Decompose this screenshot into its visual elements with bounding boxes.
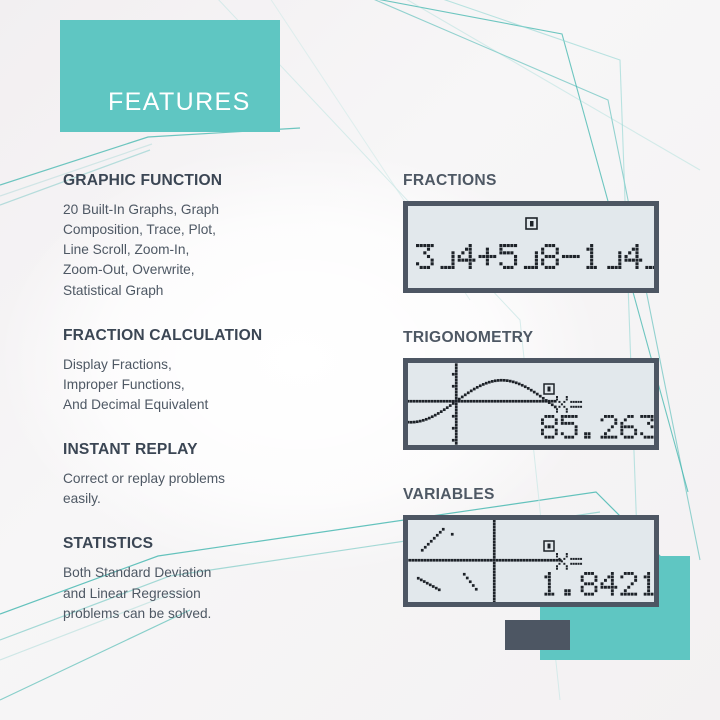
page-title: FEATURES [108,88,251,117]
display-label: TRIGONOMETRY [403,329,665,347]
accent-tab-dark [505,620,570,650]
feature-title: FRACTION CALCULATION [63,327,353,345]
calculator-display-list: FRACTIONS TRIGONOMETRY [403,172,665,607]
fraction-expression-pixels [416,244,654,269]
feature-body: 20 Built-In Graphs, Graph Composition, T… [63,200,353,301]
feature-item-instant-replay: INSTANT REPLAY Correct or replay problem… [63,441,353,509]
feature-body: Both Standard Deviation and Linear Regre… [63,563,353,623]
feature-list: GRAPHIC FUNCTION 20 Built-In Graphs, Gra… [63,172,353,650]
lcd-screen-trigonometry [408,363,654,445]
feature-item-statistics: STATISTICS Both Standard Deviation and L… [63,535,353,623]
lcd-content-fractions [408,206,654,288]
feature-item-fraction-calculation: FRACTION CALCULATION Display Fractions, … [63,327,353,415]
lcd-screen-variables [408,520,654,602]
mode-indicator-d-icon [544,384,554,394]
feature-body: Display Fractions, Improper Functions, A… [63,355,353,415]
result-value-pixels [541,415,654,439]
lcd-bezel-variables [403,515,659,607]
display-label: FRACTIONS [403,172,665,190]
feature-title: STATISTICS [63,535,353,553]
mode-indicator-d-icon [544,541,554,551]
feature-title: INSTANT REPLAY [63,441,353,459]
mode-indicator-d-icon [526,218,537,229]
linear-family-graph [408,520,562,602]
display-group-fractions: FRACTIONS [403,172,665,293]
sine-wave-graph [408,363,557,445]
lcd-bezel-trigonometry [403,358,659,450]
display-group-variables: VARIABLES [403,486,665,607]
feature-body: Correct or replay problems easily. [63,469,353,509]
feature-item-graphic-function: GRAPHIC FUNCTION 20 Built-In Graphs, Gra… [63,172,353,301]
lcd-screen-fractions [408,206,654,288]
display-group-trigonometry: TRIGONOMETRY [403,329,665,450]
display-label: VARIABLES [403,486,665,504]
result-value-pixels [544,572,654,596]
feature-title: GRAPHIC FUNCTION [63,172,353,190]
x-equals-label [556,396,582,413]
lcd-content-trigonometry [408,363,654,445]
lcd-bezel-fractions [403,201,659,293]
lcd-content-variables [408,520,654,602]
